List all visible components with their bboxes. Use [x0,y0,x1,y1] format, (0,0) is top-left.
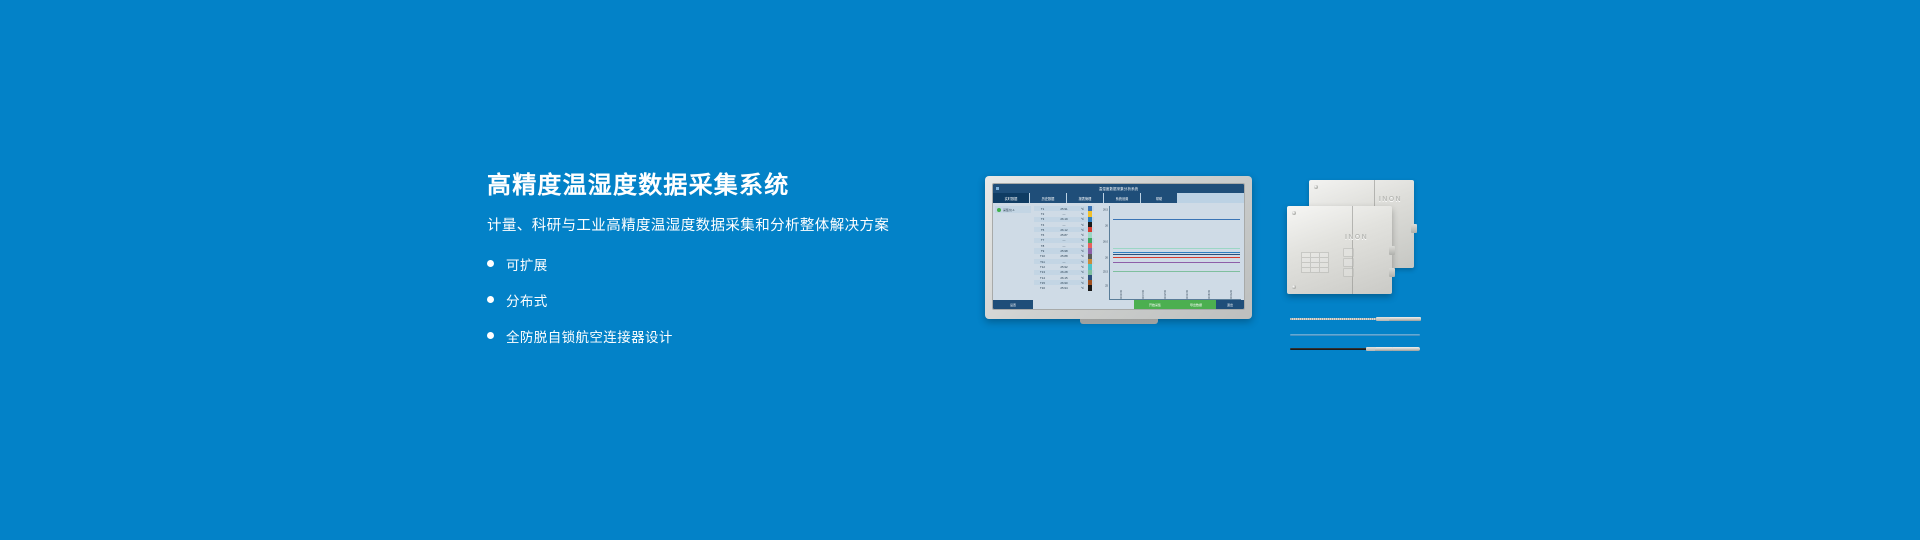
app-tab-bar: 实时数据 历史数据 报表管理 系统设置 帮助 [993,193,1244,203]
panel-pc-monitor: 温湿度数据采集分析系统 实时数据 历史数据 报表管理 系统设置 [985,176,1252,319]
cell-value: 26.90 [1051,281,1077,285]
cell-channel: T10 [1034,254,1051,258]
probe-tip [1389,317,1421,321]
probe-ferrule [1376,317,1390,320]
probe-cable [1290,348,1368,350]
y-tick-label: 26 [1105,224,1108,227]
bullet-icon [487,332,494,339]
table-row: T11 --- ℃ [1034,259,1094,264]
sidebar-item-device[interactable]: 采集仪-1 [995,206,1031,213]
table-row: T7 --- ℃ [1034,238,1094,243]
tab-realtime[interactable]: 实时数据 [993,193,1030,203]
tab-help[interactable]: 帮助 [1141,193,1178,203]
cell-channel: T8 [1034,244,1051,248]
button-label: 开始采集 [1149,303,1161,307]
cell-value: 26.19 [1051,217,1077,221]
app-body: 采集仪-1 T1 25.91 ℃ T2 --- ℃ [993,203,1244,300]
screw-icon [1314,185,1318,189]
cell-channel: T6 [1034,233,1051,237]
cell-unit: ℃ [1077,286,1088,290]
cell-channel: T12 [1034,265,1051,269]
probe-connector [1375,347,1393,351]
cell-value: --- [1051,260,1077,264]
feature-label: 分布式 [506,290,548,310]
cell-unit: ℃ [1077,223,1088,227]
chart-y-axis: 26.5 26 26.0 26 25.5 25 [1097,206,1109,300]
cell-value: --- [1051,223,1077,227]
settings-button[interactable]: 设置 [993,300,1033,309]
cell-unit: ℃ [1077,238,1088,242]
table-row: T16 25.94 ℃ [1034,285,1094,290]
cell-value: 25.92 [1051,265,1077,269]
x-tick-label: 09:00:00 [1119,290,1121,299]
brand-logo: INON [1379,196,1402,203]
screw-icon [1292,285,1296,289]
y-tick-label: 26.0 [1103,240,1108,243]
cell-channel: T15 [1034,281,1051,285]
spec-label-plate [1301,252,1335,278]
brand-logo: INON [1345,234,1368,241]
table-row: T6 25.87 ℃ [1034,232,1094,237]
device-label: 采集仪-1 [1003,208,1015,212]
y-tick-label: 25 [1105,284,1108,287]
app-titlebar: 温湿度数据采集分析系统 [993,184,1244,193]
series-line-t1 [1113,219,1240,220]
page-subtitle: 计量、科研与工业高精度温湿度数据采集和分析整体解决方案 [487,217,957,236]
app-window-title: 温湿度数据采集分析系统 [1099,186,1139,191]
cell-value: 26.28 [1051,270,1077,274]
feature-list: 可扩展 分布式 全防脱自锁航空连接器设计 [487,254,957,346]
monitor-screen: 温湿度数据采集分析系统 实时数据 历史数据 报表管理 系统设置 [992,183,1245,310]
port-diagram [1343,248,1367,280]
table-row: T10 25.88 ℃ [1034,254,1094,259]
chart-x-axis: 09:00:00 09:10:00 09:20:00 09:30:00 09:4… [1109,290,1241,299]
table-row: T3 26.19 ℃ [1034,217,1094,222]
series-color-swatch [1088,285,1092,290]
cell-value: --- [1051,238,1077,242]
list-item: 可扩展 [487,254,957,274]
x-tick-label: 09:40:00 [1207,290,1209,299]
table-row: T9 25.98 ℃ [1034,248,1094,253]
cell-channel: T9 [1034,249,1051,253]
button-label: 退出 [1227,303,1233,307]
button-label: 设置 [1010,303,1016,307]
cell-unit: ℃ [1077,276,1088,280]
x-tick-label: 09:10:00 [1141,290,1143,299]
temperature-probe-2 [1290,347,1420,351]
series-line-t6 [1113,248,1240,249]
hero-banner: 高精度温湿度数据采集系统 计量、科研与工业高精度温湿度数据采集和分析整体解决方案… [0,0,1920,540]
cell-value: --- [1051,212,1077,216]
cell-channel: T4 [1034,223,1051,227]
table-row: T1 25.91 ℃ [1034,206,1094,211]
cell-channel: T13 [1034,270,1051,274]
data-logger-unit-front: INON [1287,206,1392,294]
table-row: T2 --- ℃ [1034,211,1094,216]
table-row: T15 26.90 ℃ [1034,280,1094,285]
start-acquisition-button[interactable]: 开始采集 [1134,300,1176,309]
table-row: T5 26.12 ℃ [1034,227,1094,232]
button-label: 导出数据 [1190,303,1202,307]
cell-value: 25.91 [1051,207,1077,211]
table-row: T14 26.15 ℃ [1034,275,1094,280]
feature-label: 可扩展 [506,254,548,274]
cell-channel: T7 [1034,238,1051,242]
status-led-icon [997,208,1001,212]
series-line-t3 [1113,252,1240,253]
cell-unit: ℃ [1077,228,1088,232]
cell-channel: T1 [1034,207,1051,211]
series-line-t5 [1113,257,1240,258]
cell-channel: T11 [1034,260,1051,264]
temperature-probe-cable [1290,333,1420,337]
y-tick-label: 25.5 [1103,270,1108,273]
cell-channel: T2 [1034,212,1051,216]
cell-unit: ℃ [1077,254,1088,258]
exit-button[interactable]: 退出 [1216,300,1244,309]
cell-channel: T3 [1034,217,1051,221]
probe-cable [1290,318,1378,320]
tab-label: 系统设置 [1116,196,1129,201]
cell-unit: ℃ [1077,233,1088,237]
cell-unit: ℃ [1077,207,1088,211]
cell-unit: ℃ [1077,270,1088,274]
app-logo-icon [996,187,999,190]
chart-plot-area [1109,206,1241,300]
series-line-t14 [1113,254,1240,255]
bullet-icon [487,296,494,303]
cell-channel: T14 [1034,276,1051,280]
table-row: T13 26.28 ℃ [1034,270,1094,275]
cell-value: 26.15 [1051,276,1077,280]
table-row: T12 25.92 ℃ [1034,264,1094,269]
cell-unit: ℃ [1077,281,1088,285]
probe-cable [1290,334,1420,336]
probe-tip [1392,347,1420,351]
cell-value: 25.88 [1051,254,1077,258]
list-item: 分布式 [487,290,957,310]
series-line-t13 [1113,271,1240,272]
list-item: 全防脱自锁航空连接器设计 [487,326,957,346]
table-row: T4 --- ℃ [1034,222,1094,227]
bullet-icon [487,260,494,267]
tab-history[interactable]: 历史数据 [1030,193,1067,203]
tab-label: 实时数据 [1005,196,1018,201]
cell-value: 26.12 [1051,228,1077,232]
cell-value: 25.94 [1051,286,1077,290]
tab-label: 历史数据 [1042,196,1055,201]
cell-unit: ℃ [1077,212,1088,216]
tab-report[interactable]: 报表管理 [1067,193,1104,203]
cell-value: --- [1051,244,1077,248]
screw-icon [1292,211,1296,215]
trend-chart: 26.5 26 26.0 26 25.5 25 [1095,203,1244,300]
feature-label: 全防脱自锁航空连接器设计 [506,326,673,346]
device-tree-sidebar: 采集仪-1 [993,203,1033,300]
connector-icon [1411,224,1417,233]
cell-value: 25.87 [1051,233,1077,237]
footer-spacer [1033,300,1134,309]
tab-label: 帮助 [1156,196,1162,201]
cell-unit: ℃ [1077,249,1088,253]
temperature-probe-1 [1290,317,1420,321]
cell-unit: ℃ [1077,244,1088,248]
x-tick-label: 09:50:00 [1229,290,1231,299]
cell-unit: ℃ [1077,260,1088,264]
tab-label: 报表管理 [1079,196,1092,201]
cell-unit: ℃ [1077,217,1088,221]
cell-unit: ℃ [1077,265,1088,269]
connector-icon [1389,268,1395,277]
cell-channel: T5 [1034,228,1051,232]
table-row: T8 --- ℃ [1034,243,1094,248]
cell-channel: T16 [1034,286,1051,290]
hero-copy: 高精度温湿度数据采集系统 计量、科研与工业高精度温湿度数据采集和分析整体解决方案… [487,172,957,346]
connector-icon [1389,246,1395,255]
tab-settings[interactable]: 系统设置 [1104,193,1141,203]
app-footer: 设置 开始采集 导出数据 退出 [993,300,1244,309]
acquisition-app: 温湿度数据采集分析系统 实时数据 历史数据 报表管理 系统设置 [993,184,1244,309]
x-tick-label: 09:20:00 [1163,290,1165,299]
series-line-t9 [1113,262,1240,263]
channel-table: T1 25.91 ℃ T2 --- ℃ T3 [1033,203,1095,300]
x-tick-label: 09:30:00 [1185,290,1187,299]
export-data-button[interactable]: 导出数据 [1176,300,1216,309]
y-tick-label: 26.5 [1103,208,1108,211]
page-title: 高精度温湿度数据采集系统 [487,172,957,201]
cell-value: 25.98 [1051,249,1077,253]
y-tick-label: 26 [1105,256,1108,259]
